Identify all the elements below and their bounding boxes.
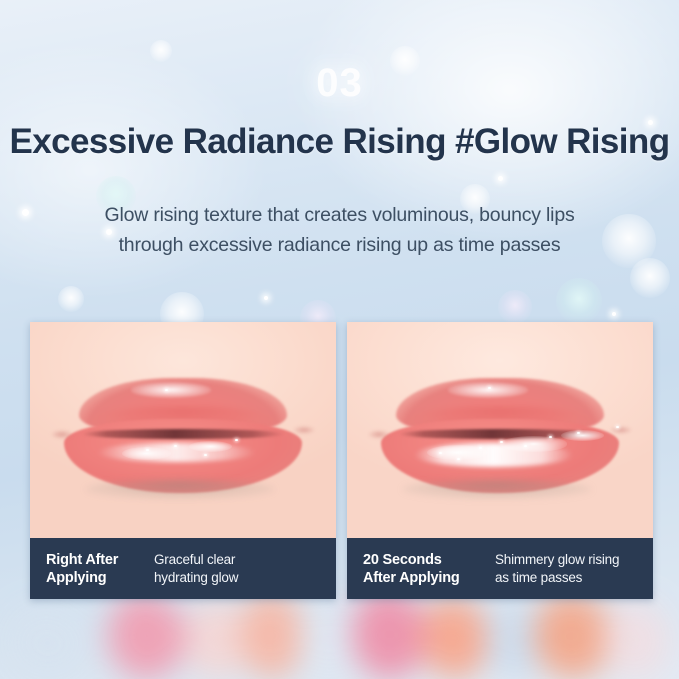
subtitle-line-2: through excessive radiance rising up as … xyxy=(0,230,679,260)
comparison-panel-right-after-applying: Right After Applying Graceful clear hydr… xyxy=(30,322,336,599)
blur-blob xyxy=(186,599,248,679)
subtitle-line-1: Glow rising texture that creates volumin… xyxy=(0,200,679,230)
sparkle-highlight xyxy=(439,452,442,454)
blur-blob xyxy=(352,589,428,679)
lip-corner-right xyxy=(293,426,314,435)
lips-photo-right-after-applying xyxy=(30,322,336,538)
lip-corner-left xyxy=(51,430,72,439)
sparkle-highlight xyxy=(165,389,168,391)
blur-blob xyxy=(240,591,304,679)
lip-corner-right xyxy=(610,426,631,435)
sparkle-highlight xyxy=(488,387,491,389)
blur-blob xyxy=(604,601,668,679)
sparkle-highlight xyxy=(500,441,503,443)
caption-description: Shimmery glow rising as time passes xyxy=(495,551,619,587)
bokeh-circle xyxy=(150,40,172,62)
caption-label: Right After Applying xyxy=(46,551,150,587)
lips-illustration xyxy=(347,322,653,538)
sparkle-dot xyxy=(264,296,268,300)
lower-lip-shadow xyxy=(402,480,592,499)
sparkle-highlight xyxy=(577,432,580,434)
blur-blob xyxy=(534,593,612,679)
caption-bar: 20 Seconds After Applying Shimmery glow … xyxy=(347,538,653,599)
upper-lip-gloss xyxy=(448,382,528,397)
mouth-line xyxy=(82,429,284,439)
caption-bar: Right After Applying Graceful clear hydr… xyxy=(30,538,336,599)
page-subtitle: Glow rising texture that creates volumin… xyxy=(0,200,679,260)
gloss-highlight xyxy=(500,436,567,451)
lip-corner-left xyxy=(368,430,389,439)
lips-photo-20-seconds-after-applying xyxy=(347,322,653,538)
gloss-highlight xyxy=(561,430,604,441)
caption-description: Graceful clear hydrating glow xyxy=(154,551,238,587)
blur-blob xyxy=(8,607,88,679)
step-number: 03 xyxy=(0,61,679,106)
bokeh-circle xyxy=(630,258,670,298)
sparkle-dot xyxy=(612,312,616,316)
sparkle-dot xyxy=(498,176,503,181)
blur-blob xyxy=(422,597,488,679)
sparkle-highlight xyxy=(174,445,177,447)
caption-label: 20 Seconds After Applying xyxy=(363,551,491,587)
bokeh-circle xyxy=(498,290,532,324)
comparison-panel-20-seconds-after-applying: 20 Seconds After Applying Shimmery glow … xyxy=(347,322,653,599)
upper-lip-gloss xyxy=(131,382,211,397)
lower-lip-shadow xyxy=(85,480,275,499)
sparkle-highlight xyxy=(235,439,238,441)
gloss-highlight xyxy=(189,441,232,452)
bokeh-circle xyxy=(556,278,602,324)
product-detail-page: 03 Excessive Radiance Rising #Glow Risin… xyxy=(0,0,679,679)
blur-blob xyxy=(108,593,186,679)
page-title: Excessive Radiance Rising #Glow Rising xyxy=(0,122,679,162)
lips-illustration xyxy=(30,322,336,538)
blur-blob xyxy=(300,601,358,679)
bokeh-circle xyxy=(58,286,84,312)
sparkle-highlight xyxy=(616,426,619,428)
